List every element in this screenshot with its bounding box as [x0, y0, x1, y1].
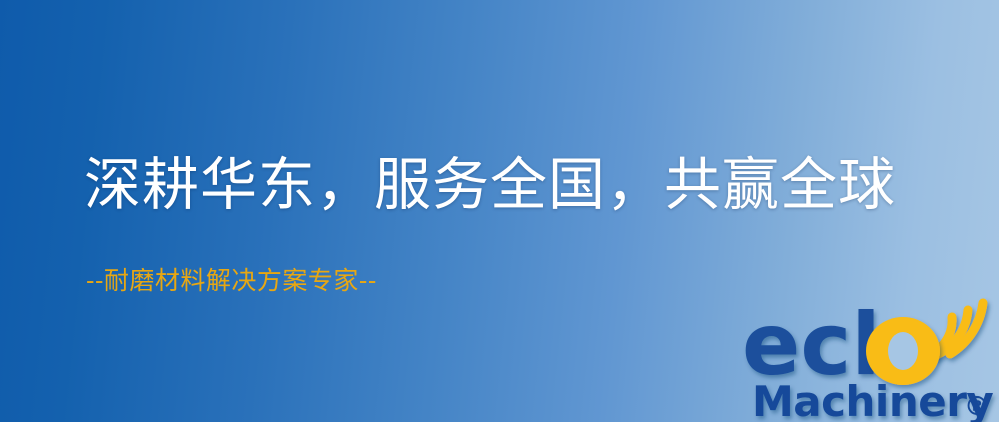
- banner-headline: 深耕华东，服务全国，共赢全球: [84, 152, 896, 218]
- logo-letter-o: [866, 317, 940, 385]
- registered-trademark-icon: ®: [964, 392, 990, 422]
- promo-banner: 深耕华东，服务全国，共赢全球 --耐磨材料解决方案专家-- ech: [0, 0, 999, 422]
- logo-tagline: Machinery: [752, 377, 993, 422]
- banner-subtitle: --耐磨材料解决方案专家--: [86, 266, 377, 296]
- company-logo: ech Machinery ®: [742, 296, 999, 422]
